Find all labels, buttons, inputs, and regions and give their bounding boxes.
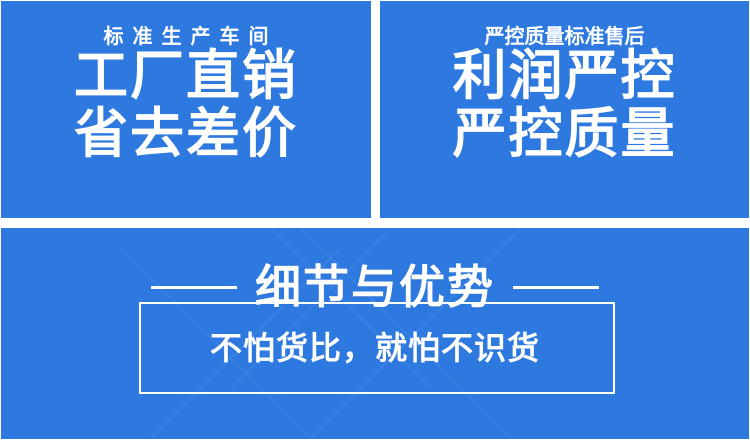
panel-bottom-subline: 不怕货比，就怕不识货 xyxy=(210,332,540,364)
panel-details-advantages: 细节与优势 不怕货比，就怕不识货 xyxy=(1,228,749,439)
panel-right-headline-line-2: 严控质量 xyxy=(453,105,677,163)
dash-left-icon xyxy=(151,286,237,289)
panel-left-content: 标准生产车间 工厂直销 省去差价 xyxy=(1,1,371,218)
panel-left-headline-line-1: 工厂直销 xyxy=(74,47,298,105)
panel-left-headline-line-2: 省去差价 xyxy=(74,105,298,163)
headline-row: 细节与优势 xyxy=(151,264,599,310)
panel-left-eyebrow: 标准生产车间 xyxy=(95,27,278,47)
panel-right-content: 严控质量标准售后 利润严控 严控质量 xyxy=(380,1,749,218)
panel-bottom-headline: 细节与优势 xyxy=(255,264,495,310)
dash-right-icon xyxy=(513,286,599,289)
panel-bottom-content: 细节与优势 不怕货比，就怕不识货 xyxy=(1,228,749,364)
promo-banner: 标准生产车间 工厂直销 省去差价 严控质量标准售后 利润严控 严控质量 xyxy=(0,0,750,440)
panel-quality-control: 严控质量标准售后 利润严控 严控质量 xyxy=(380,1,749,218)
panel-right-eyebrow: 严控质量标准售后 xyxy=(485,27,645,47)
panel-right-headline-line-1: 利润严控 xyxy=(453,47,677,105)
panel-factory-direct: 标准生产车间 工厂直销 省去差价 xyxy=(1,1,371,218)
